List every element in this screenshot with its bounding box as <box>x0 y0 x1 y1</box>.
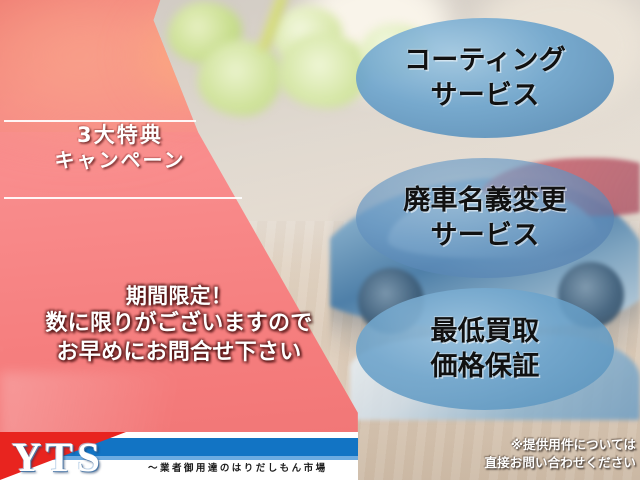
promo-banner: 3大特典 キャンペーン 期間限定！ 数に限りがございますので お早めにお問合せ下… <box>0 0 640 480</box>
badge-2-line-2: サービス <box>430 221 539 251</box>
badge-scrap-title-transfer-service: 廃車名義変更 サービス <box>356 158 614 278</box>
logo-wordmark: YTS <box>12 434 157 480</box>
limited-line-2: 数に限りがございますので <box>0 310 358 339</box>
campaign-rule-top <box>4 120 196 122</box>
badge-1-line-1: コーティング <box>404 46 566 76</box>
limited-line-3: お早めにお問合せ下さい <box>0 339 358 368</box>
plant-stem <box>212 0 332 50</box>
logo-bar: YTS ～業者御用達のはりだしもん市場 <box>0 432 358 480</box>
badge-coating-service: コーティング サービス <box>356 18 614 138</box>
plant-leaf-2 <box>198 40 282 116</box>
badge-minimum-price-guarantee: 最低買取 価格保証 <box>356 288 614 410</box>
campaign-line-1: 3大特典 <box>0 123 240 147</box>
footnote-line-2: 直接お問い合わせください <box>398 454 636 472</box>
campaign-line-2: キャンペーン <box>0 149 240 172</box>
badge-2-line-1: 廃車名義変更 <box>403 186 567 216</box>
footnote-line-1: ※提供用件については <box>398 436 636 454</box>
badge-3-line-2: 価格保証 <box>430 352 539 382</box>
campaign-rule-bottom <box>4 197 242 199</box>
logo-tagline: ～業者御用達のはりだしもん市場 <box>148 459 358 479</box>
campaign-headline: 3大特典 キャンペーン <box>0 123 240 173</box>
badge-3-line-1: 最低買取 <box>430 317 539 347</box>
limited-offer-text: 期間限定！ 数に限りがございますので お早めにお問合せ下さい <box>0 283 358 367</box>
badge-1-line-2: サービス <box>430 81 539 111</box>
limited-line-1: 期間限定！ <box>0 283 358 310</box>
footnote: ※提供用件については 直接お問い合わせください <box>398 436 636 472</box>
